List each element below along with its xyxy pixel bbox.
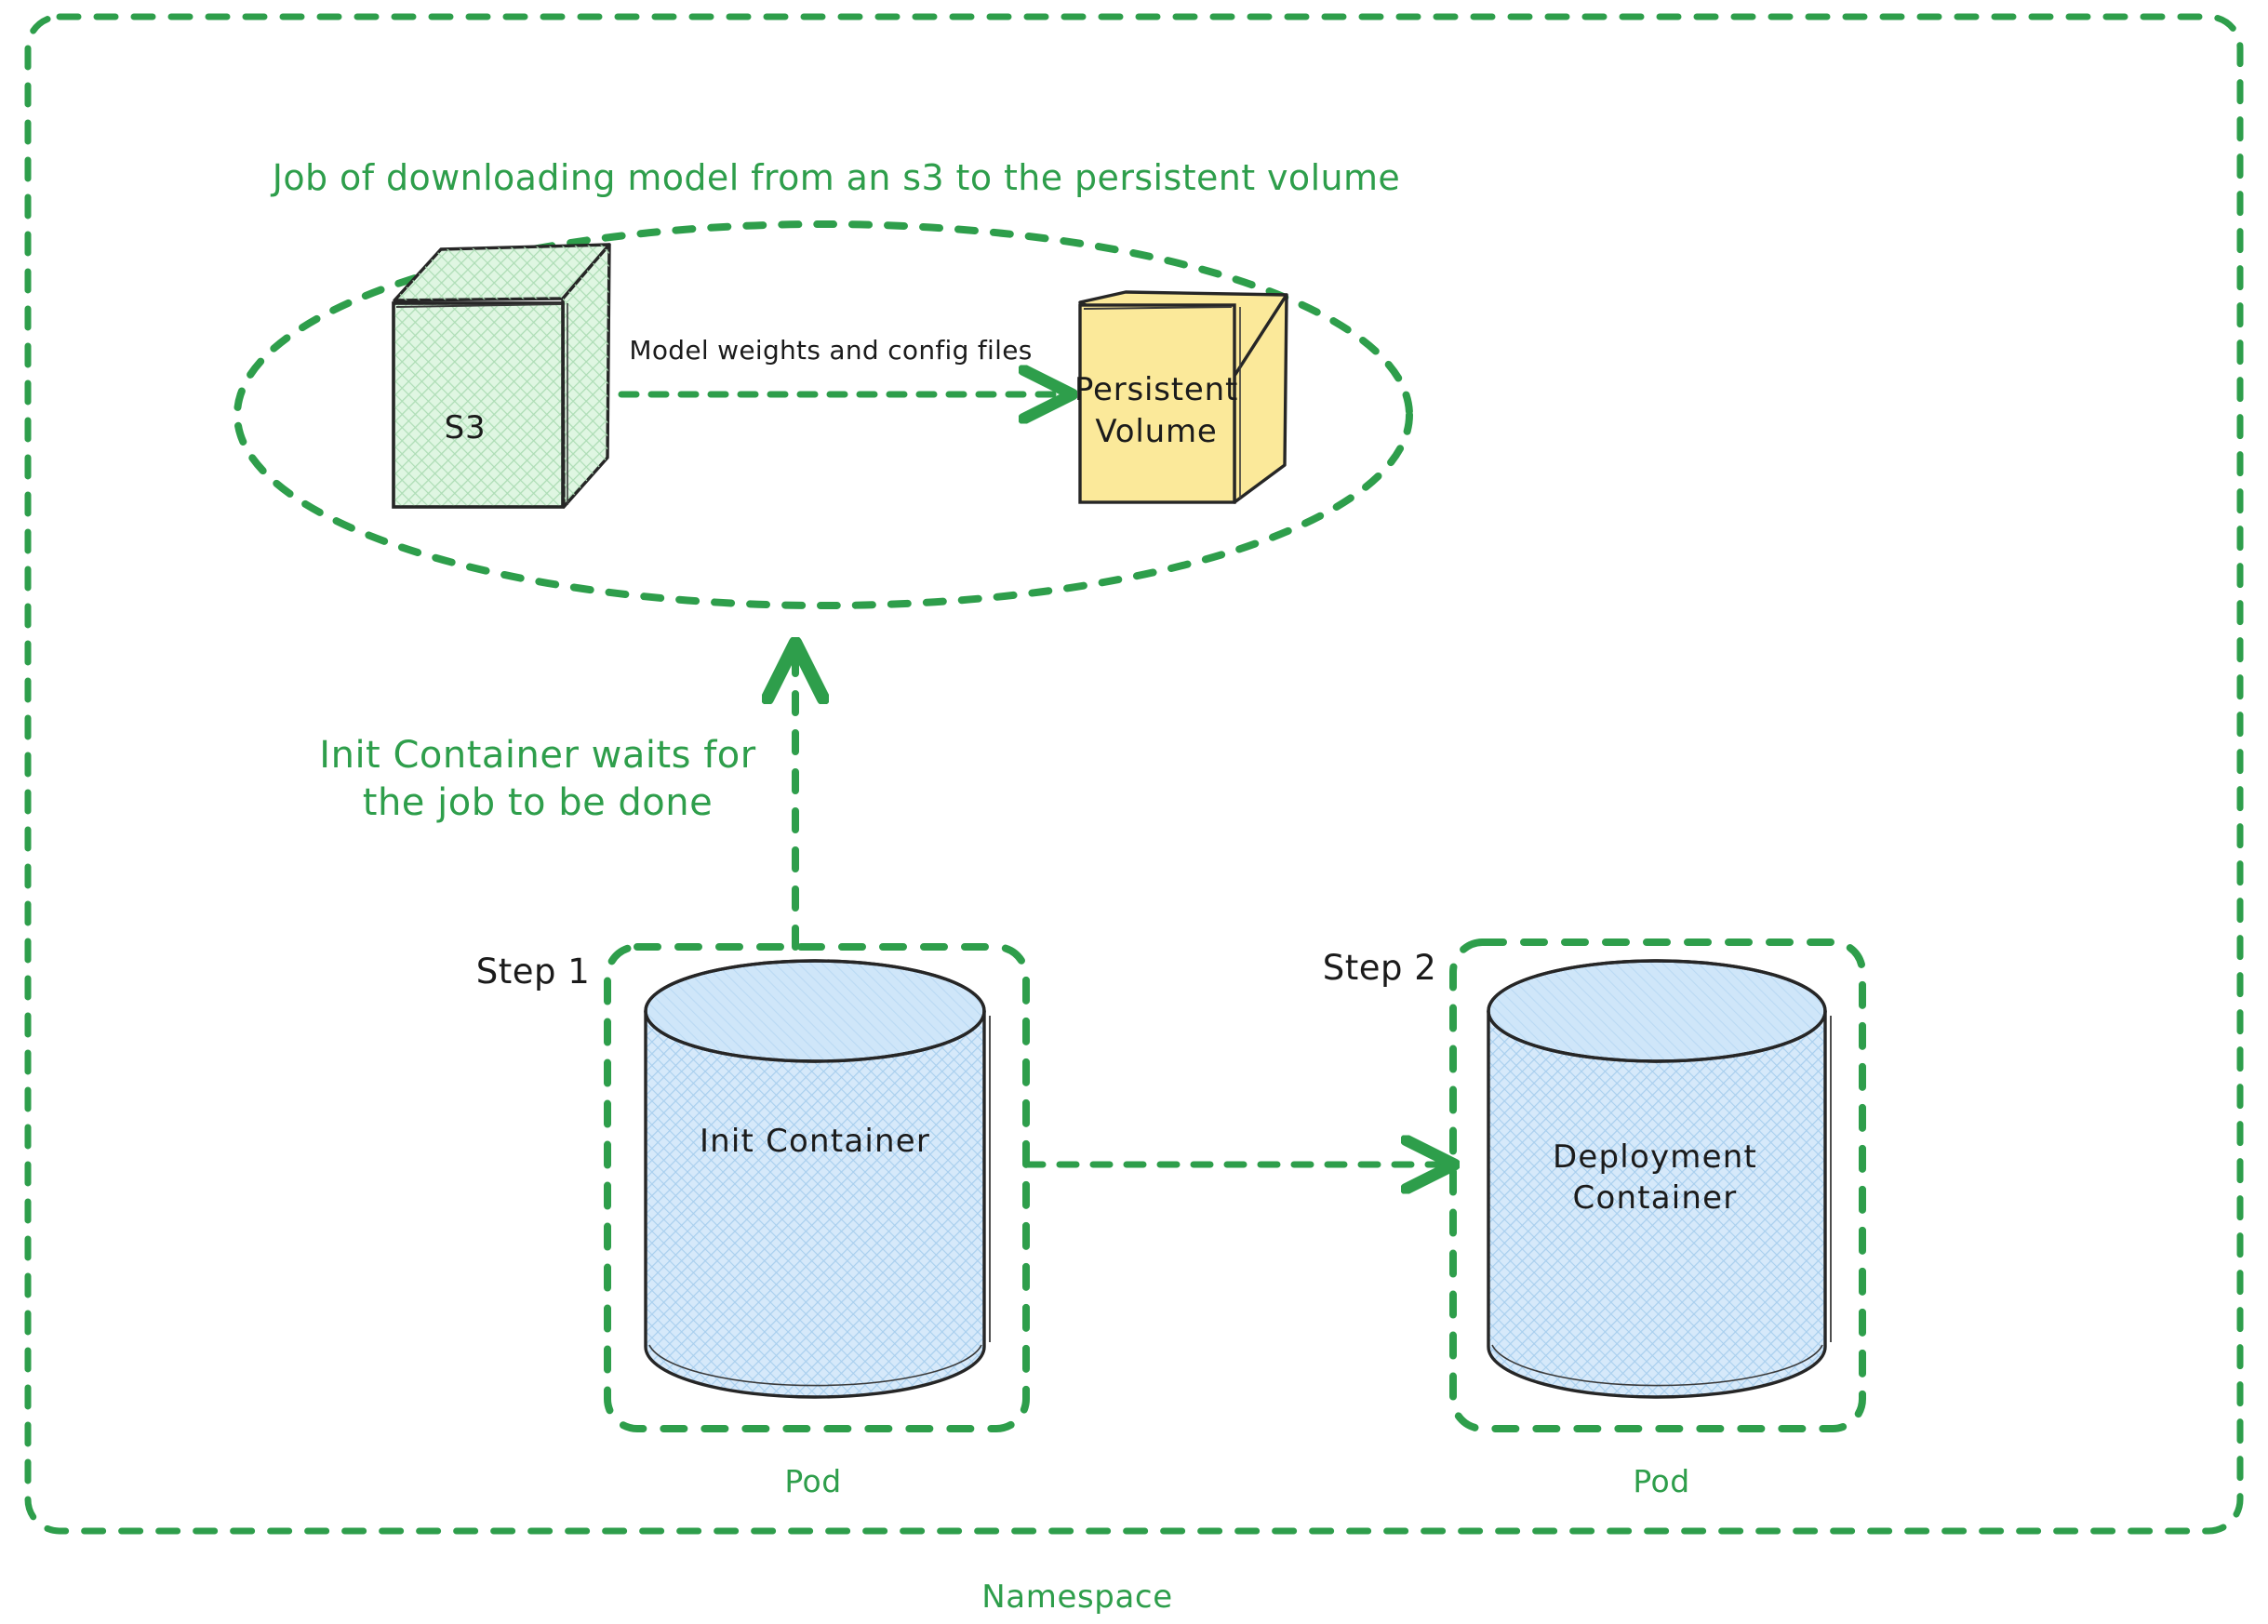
pod-right-label: Pod (1633, 1464, 1689, 1500)
init-waits-annotation-line1: Init Container waits for (319, 734, 755, 778)
s3-cube (394, 245, 609, 507)
job-title-label: Job of downloading model from an s3 to t… (273, 157, 1400, 199)
init-waits-annotation-line2: the job to be done (363, 781, 713, 825)
init-container-cylinder (646, 961, 990, 1397)
step-1-label: Step 1 (476, 952, 591, 992)
init-container-label: Init Container (700, 1123, 930, 1160)
s3-node-label: S3 (445, 409, 487, 446)
persistent-volume-label-line1: Persistent (1074, 371, 1238, 408)
deployment-container-label-line1: Deployment (1553, 1138, 1757, 1176)
deployment-container-label-line2: Container (1573, 1179, 1738, 1217)
persistent-volume-label-line2: Volume (1095, 413, 1217, 450)
step-2-label: Step 2 (1323, 948, 1437, 989)
namespace-label: Namespace (981, 1578, 1172, 1616)
diagram-vector-layer (0, 0, 2268, 1624)
pod-left-label: Pod (784, 1464, 841, 1500)
diagram-canvas: Job of downloading model from an s3 to t… (0, 0, 2268, 1624)
transfer-edge-label: Model weights and config files (629, 335, 1032, 366)
